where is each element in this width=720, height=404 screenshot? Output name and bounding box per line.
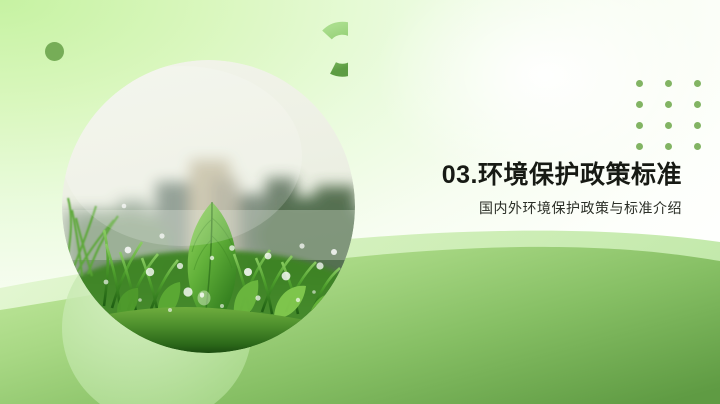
dot-grid-row [636, 143, 720, 150]
grid-dot [636, 101, 643, 108]
grid-dot [694, 80, 701, 87]
ring-arc-icon [282, 20, 348, 86]
dot-grid-decoration [636, 80, 720, 144]
solid-dot-icon [45, 42, 64, 61]
grid-dot [665, 143, 672, 150]
slide-title: 03.环境保护政策标准 [262, 160, 682, 191]
slide-text-block: 03.环境保护政策标准 国内外环境保护政策与标准介绍 [262, 160, 682, 219]
grid-dot [636, 143, 643, 150]
grid-dot [694, 101, 701, 108]
presentation-slide: 03.环境保护政策标准 国内外环境保护政策与标准介绍 [0, 0, 720, 404]
grid-dot [694, 143, 701, 150]
grid-dot [636, 80, 643, 87]
grid-dot [665, 122, 672, 129]
grid-dot [636, 122, 643, 129]
grid-dot [694, 122, 701, 129]
slide-subtitle: 国内外环境保护政策与标准介绍 [262, 199, 682, 219]
dot-grid-row [636, 101, 720, 108]
grid-dot [665, 101, 672, 108]
dot-grid-row [636, 80, 720, 87]
dot-grid-row [636, 122, 720, 129]
grid-dot [665, 80, 672, 87]
